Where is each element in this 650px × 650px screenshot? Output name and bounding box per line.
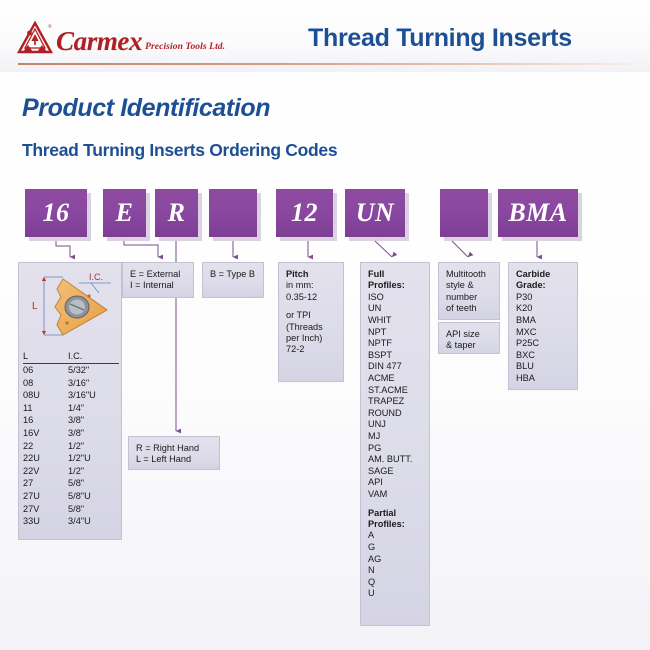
code-box-size-label: 16 (43, 198, 70, 228)
profiles-gap (368, 501, 422, 508)
code-box-profile[interactable]: UN (345, 189, 405, 237)
table-row: 22V1/2" (23, 465, 119, 478)
table-row: 27V5/8" (23, 503, 119, 516)
partial-profiles-heading-2: Profiles: (368, 519, 422, 530)
page-subtitle: Thread Turning Inserts Ordering Codes (22, 140, 337, 161)
cell-ic: 1/2"U (48, 453, 119, 466)
cell-ic: 1/4" (48, 402, 119, 415)
list-item: MXC (516, 327, 570, 339)
grade-heading-2: Grade: (516, 280, 570, 291)
page-header: ® Carmex Precision Tools Ltd. Thread Tur… (0, 0, 650, 72)
col-header-ic: I.C. (48, 351, 119, 364)
cell-ic: 5/8"U (48, 490, 119, 503)
pitch-line-6: 72-2 (286, 344, 336, 355)
api-line-1: API size (446, 329, 492, 340)
table-row: 163/8" (23, 415, 119, 428)
cell-ic: 3/8" (48, 415, 119, 428)
full-profiles-list: ISOUNWHITNPTNPTFBSPTDIN 477ACMEST.ACMETR… (368, 292, 422, 501)
panel-pitch: Pitch in mm: 0.35-12 or TPI (Threads per… (278, 262, 344, 382)
list-item: P30 (516, 292, 570, 304)
insert-dimension-panel: L I.C. (18, 262, 122, 540)
cell-ic: 5/32" (48, 364, 119, 377)
col-header-l: L (23, 351, 48, 364)
code-box-type[interactable]: R (155, 189, 198, 237)
list-item: ROUND (368, 408, 422, 420)
list-item: P25C (516, 338, 570, 350)
pitch-line-1: in mm: (286, 280, 336, 291)
cell-ic: 1/2" (48, 440, 119, 453)
cell-ic: 3/4"U (48, 516, 119, 529)
list-item: HBA (516, 373, 570, 385)
list-item: BMA (516, 315, 570, 327)
svg-text:L: L (32, 301, 38, 312)
table-row: 111/4" (23, 402, 119, 415)
panel-carbide-grade: Carbide Grade: P30K20BMAMXCP25CBXCBLUHBA (508, 262, 578, 390)
cell-l: 08 (23, 377, 48, 390)
list-item: ST.ACME (368, 385, 422, 397)
code-box-pitch-label: 12 (291, 198, 318, 228)
carbide-grade-list: P30K20BMAMXCP25CBXCBLUHBA (516, 292, 570, 385)
multi-line-3: number (446, 292, 492, 303)
table-row: 08U3/16"U (23, 390, 119, 403)
insert-illustration: L I.C. (19, 263, 123, 351)
cell-l: 06 (23, 364, 48, 377)
list-item: SAGE (368, 466, 422, 478)
cell-ic: 1/2" (48, 465, 119, 478)
list-item: VAM (368, 489, 422, 501)
table-row: 221/2" (23, 440, 119, 453)
pitch-line-5: per Inch) (286, 333, 336, 344)
page-title: Product Identification (22, 94, 270, 123)
cell-l: 27U (23, 490, 48, 503)
table-row: 33U3/4"U (23, 516, 119, 529)
panel-api-size: API size & taper (438, 322, 500, 354)
list-item: Q (368, 577, 422, 589)
cell-l: 27 (23, 478, 48, 491)
panel-multitooth: Multitooth style & number of teeth (438, 262, 500, 320)
brand-wordmark: Carmex (56, 28, 142, 55)
list-item: K20 (516, 303, 570, 315)
list-item: MJ (368, 431, 422, 443)
code-box-type-label: R (168, 198, 186, 228)
code-box-direction-label: E (116, 198, 134, 228)
list-item: BLU (516, 361, 570, 373)
partial-profiles-heading-1: Partial (368, 508, 422, 519)
list-item: API (368, 477, 422, 489)
ei-line-2: I = Internal (130, 280, 186, 291)
b-line-1: B = Type B (210, 269, 256, 280)
lic-table: L I.C. 065/32"083/16"08U3/16"U111/4"163/… (19, 351, 123, 528)
brand-tagline: Precision Tools Ltd. (145, 43, 225, 56)
cell-l: 22V (23, 465, 48, 478)
svg-text:I.C.: I.C. (89, 272, 103, 282)
table-row: 083/16" (23, 377, 119, 390)
pitch-heading: Pitch (286, 269, 336, 280)
full-profiles-heading-1: Full (368, 269, 422, 280)
list-item: N (368, 565, 422, 577)
product-identification-page: ® Carmex Precision Tools Ltd. Thread Tur… (0, 0, 650, 650)
cell-l: 16 (23, 415, 48, 428)
list-item: U (368, 588, 422, 600)
table-row: 16V3/8" (23, 427, 119, 440)
cell-ic: 5/8" (48, 503, 119, 516)
panel-profiles: Full Profiles: ISOUNWHITNPTNPTFBSPTDIN 4… (360, 262, 430, 626)
cell-l: 11 (23, 402, 48, 415)
api-line-2: & taper (446, 340, 492, 351)
panel-hand-direction: R = Right Hand L = Left Hand (128, 436, 220, 470)
grade-heading-1: Carbide (516, 269, 570, 280)
list-item: BXC (516, 350, 570, 362)
pitch-line-3: or TPI (286, 310, 336, 321)
pitch-gap (286, 303, 336, 310)
list-item: BSPT (368, 350, 422, 362)
panel-type-b: B = Type B (202, 262, 264, 298)
list-item: UNJ (368, 419, 422, 431)
list-item: WHIT (368, 315, 422, 327)
ei-line-1: E = External (130, 269, 186, 280)
full-profiles-heading-2: Profiles: (368, 280, 422, 291)
rl-line-2: L = Left Hand (136, 454, 212, 465)
list-item: A (368, 530, 422, 542)
multi-line-2: style & (446, 280, 492, 291)
list-item: NPT (368, 327, 422, 339)
list-item: ACME (368, 373, 422, 385)
list-item: TRAPEZ (368, 396, 422, 408)
list-item: PG (368, 443, 422, 455)
pitch-line-2: 0.35-12 (286, 292, 336, 303)
cell-ic: 3/16" (48, 377, 119, 390)
header-title: Thread Turning Inserts (308, 24, 572, 53)
code-box-size[interactable]: 16 (25, 189, 87, 237)
table-row: 22U1/2"U (23, 453, 119, 466)
cell-ic: 5/8" (48, 478, 119, 491)
table-header-row: L I.C. (23, 351, 119, 364)
partial-profiles-list: AGAGNQU (368, 530, 422, 600)
multi-line-4: of teeth (446, 303, 492, 314)
panel-external-internal: E = External I = Internal (122, 262, 194, 298)
header-divider (18, 63, 632, 65)
carmex-triangle-logo-icon: ® (17, 21, 53, 55)
code-box-blank-2[interactable] (440, 189, 488, 237)
code-box-direction[interactable]: E (103, 189, 146, 237)
cell-ic: 3/8" (48, 427, 119, 440)
table-row: 275/8" (23, 478, 119, 491)
cell-ic: 3/16"U (48, 390, 119, 403)
cell-l: 27V (23, 503, 48, 516)
list-item: DIN 477 (368, 361, 422, 373)
code-box-grade-label: BMA (508, 198, 567, 228)
rl-line-1: R = Right Hand (136, 443, 212, 454)
code-box-blank-1[interactable] (209, 189, 257, 237)
svg-text:®: ® (48, 24, 52, 30)
list-item: ISO (368, 292, 422, 304)
multi-line-1: Multitooth (446, 269, 492, 280)
cell-l: 22 (23, 440, 48, 453)
list-item: G (368, 542, 422, 554)
cell-l: 16V (23, 427, 48, 440)
cell-l: 08U (23, 390, 48, 403)
code-box-profile-label: UN (356, 198, 395, 228)
table-row: 27U5/8"U (23, 490, 119, 503)
table-row: 065/32" (23, 364, 119, 377)
list-item: AM. BUTT. (368, 454, 422, 466)
list-item: AG (368, 554, 422, 566)
cell-l: 22U (23, 453, 48, 466)
list-item: NPTF (368, 338, 422, 350)
list-item: UN (368, 303, 422, 315)
code-box-pitch[interactable]: 12 (276, 189, 333, 237)
carmex-logo: ® Carmex Precision Tools Ltd. (17, 21, 225, 55)
cell-l: 33U (23, 516, 48, 529)
code-box-grade[interactable]: BMA (498, 189, 578, 237)
pitch-line-4: (Threads (286, 322, 336, 333)
